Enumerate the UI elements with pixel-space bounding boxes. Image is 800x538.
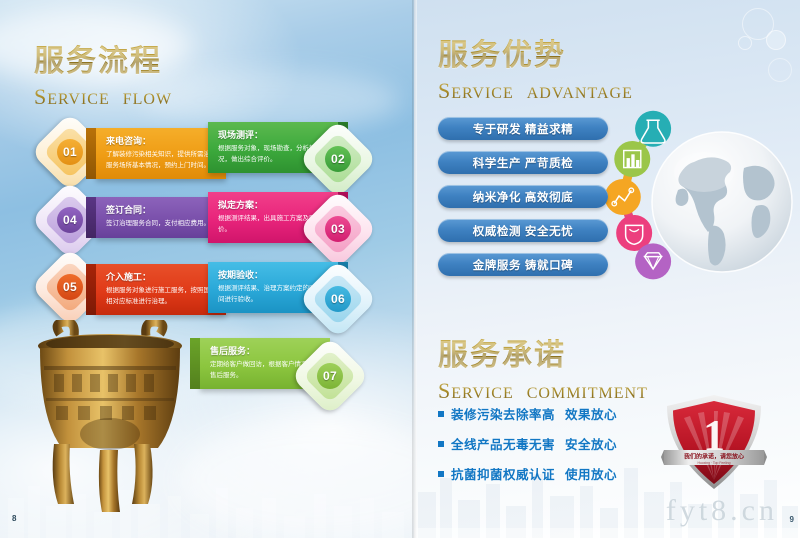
step-title: 介入施工： [106,270,218,283]
page-number-left: 8 [12,514,16,523]
advantage-pill-4[interactable]: 权威检测 安全无忧 [438,219,608,242]
commitment-heading-cn: 服务承诺 [438,330,648,374]
commitment-heading-en: SERVICE COMMITMENT [438,378,648,404]
advantage-heading-cn: 服务优势 [438,30,633,74]
step-desc: 签订治理服务合同，支付相应费用。 [106,219,218,230]
bubble-decoration [766,30,786,50]
advantage-pill-1[interactable]: 专于研发 精益求精 [438,117,608,140]
square-bullet-icon [438,441,444,447]
bronze-ding-image [20,320,200,520]
commitment-item: 全线产品无毒无害 安全放心 [438,434,617,453]
commitment-text-right: 效果放心 [565,404,617,423]
commitment-item: 抗菌抑菌权威认证 使用放心 [438,464,617,483]
advantage-heading-en: SERVICE ADVANTAGE [438,78,633,104]
step-number: 01 [63,145,77,159]
step-title: 售后服务： [210,344,322,357]
advantage-heading: 服务优势 SERVICE ADVANTAGE [438,30,633,104]
right-page: 服务优势 SERVICE ADVANTAGE [414,0,800,538]
advantage-pill-3[interactable]: 纳米净化 高效彻底 [438,185,608,208]
flask-icon [635,111,671,147]
flow-heading-cn: 服务流程 [34,36,172,80]
step-desc: 了解装修污染相关知识，提供所需治理服务场所基本情况，预约上门时间。 [106,150,218,171]
step-ribbon-04: 签订合同： 签订治理服务合同，支付相应费用。 [96,197,226,238]
flow-heading-en: SERVICE FLOW [34,84,172,110]
badge-ribbon-cn: 我们的承诺，请您放心 [684,453,744,461]
commitment-text-left: 抗菌抑菌权威认证 [451,464,555,483]
step-title: 现场测评： [218,128,330,141]
step-number: 06 [331,292,345,306]
bar-chart-icon [614,141,650,177]
flow-heading: 服务流程 SERVICE FLOW [34,36,172,110]
step-number: 03 [331,222,345,236]
step-title: 按期验收： [218,268,330,281]
page-number-right: 9 [790,515,794,524]
step-number: 02 [331,152,345,166]
bubble-decoration [738,36,752,50]
number-one-shield-badge: 1 我们的承诺，请您放心 Huoxing · Top Feeling [660,392,768,492]
step-ribbon-05: 介入施工： 根据服务对象进行施工服务，按照国家相对应标准进行治理。 [96,264,226,315]
step-desc: 根据服务对象进行施工服务，按照国家相对应标准进行治理。 [106,286,218,307]
step-number: 05 [63,280,77,294]
step-title: 拟定方案： [218,198,330,211]
brochure-spread: 服务流程 SERVICE FLOW 01 来电咨询： 了解装修污染相关知识，提供… [0,0,800,538]
watermark: fyt8.cn [666,494,778,528]
square-bullet-icon [438,411,444,417]
left-page: 服务流程 SERVICE FLOW 01 来电咨询： 了解装修污染相关知识，提供… [0,0,414,538]
step-title: 签订合同： [106,203,218,216]
commitment-list: 装修污染去除率高 效果放心 全线产品无毒无害 安全放心 抗菌抑菌权威认证 使用放… [438,404,617,494]
step-ribbon-01: 来电咨询： 了解装修污染相关知识，提供所需治理服务场所基本情况，预约上门时间。 [96,128,226,179]
advantage-pill-2[interactable]: 科学生产 严苛质检 [438,151,608,174]
commitment-text-left: 装修污染去除率高 [451,404,555,423]
badge-ribbon-en: Huoxing · Top Feeling [698,461,731,465]
page-gutter [412,0,417,538]
commitment-text-right: 使用放心 [565,464,617,483]
step-title: 来电咨询： [106,134,218,147]
step-number: 04 [63,213,77,227]
cloud-decoration [140,70,400,130]
commitment-item: 装修污染去除率高 效果放心 [438,404,617,423]
advantage-pill-5[interactable]: 金牌服务 铸就口碑 [438,253,608,276]
commitment-text-right: 安全放心 [565,434,617,453]
step-number: 07 [323,369,337,383]
bubble-decoration [768,58,792,82]
diamond-icon [635,243,671,279]
commitment-text-left: 全线产品无毒无害 [451,434,555,453]
line-graph-icon [605,179,641,215]
square-bullet-icon [438,471,444,477]
commitment-heading: 服务承诺 SERVICE COMMITMENT [438,330,648,404]
